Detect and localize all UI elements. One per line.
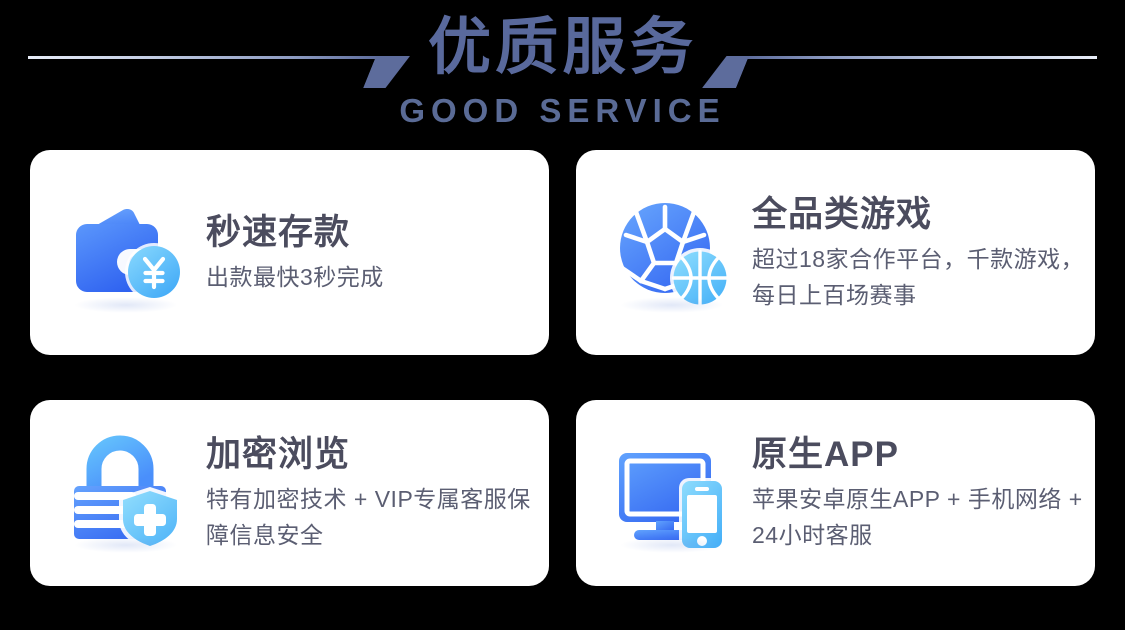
service-card[interactable]: 秒速存款 出款最快3秒完成 xyxy=(30,150,549,355)
icon-shadow xyxy=(620,537,724,553)
service-card[interactable]: 原生APP 苹果安卓原生APP + 手机网络 + 24小时客服 xyxy=(576,400,1095,586)
service-card-title: 全品类游戏 xyxy=(752,193,1092,237)
service-card-text: 加密浏览 特有加密技术 + VIP专属客服保障信息安全 xyxy=(206,433,546,553)
service-card-text: 原生APP 苹果安卓原生APP + 手机网络 + 24小时客服 xyxy=(752,433,1092,553)
monitor-phone-icon xyxy=(610,429,738,557)
page-title: 优质服务 xyxy=(0,8,1125,88)
service-card-grid: 秒速存款 出款最快3秒完成 xyxy=(30,150,1095,586)
icon-shadow xyxy=(74,297,178,313)
service-card-title: 秒速存款 xyxy=(206,211,384,255)
wallet-yen-icon-svg xyxy=(66,191,190,315)
icon-shadow xyxy=(74,537,178,553)
service-card[interactable]: 加密浏览 特有加密技术 + VIP专属客服保障信息安全 xyxy=(30,400,549,586)
service-card-text: 秒速存款 出款最快3秒完成 xyxy=(206,211,384,295)
service-card-description: 特有加密技术 + VIP专属客服保障信息安全 xyxy=(206,481,546,553)
soccer-basketball-icon xyxy=(610,189,738,317)
service-card[interactable]: 全品类游戏 超过18家合作平台，千款游戏，每日上百场赛事 xyxy=(576,150,1095,355)
service-card-description: 出款最快3秒完成 xyxy=(206,259,384,295)
page-subtitle: GOOD SERVICE xyxy=(0,92,1125,130)
wallet-yen-icon xyxy=(64,189,192,317)
soccer-basketball-icon-svg xyxy=(612,191,736,315)
page-root: 优质服务 GOOD SERVICE xyxy=(0,0,1125,630)
icon-shadow xyxy=(620,297,724,313)
page-header: 优质服务 GOOD SERVICE xyxy=(0,0,1125,145)
service-card-text: 全品类游戏 超过18家合作平台，千款游戏，每日上百场赛事 xyxy=(752,193,1092,313)
service-card-title: 加密浏览 xyxy=(206,433,546,477)
service-card-description: 超过18家合作平台，千款游戏，每日上百场赛事 xyxy=(752,241,1092,313)
service-card-description: 苹果安卓原生APP + 手机网络 + 24小时客服 xyxy=(752,481,1092,553)
lock-shield-icon xyxy=(64,429,192,557)
service-card-title: 原生APP xyxy=(752,433,1092,477)
